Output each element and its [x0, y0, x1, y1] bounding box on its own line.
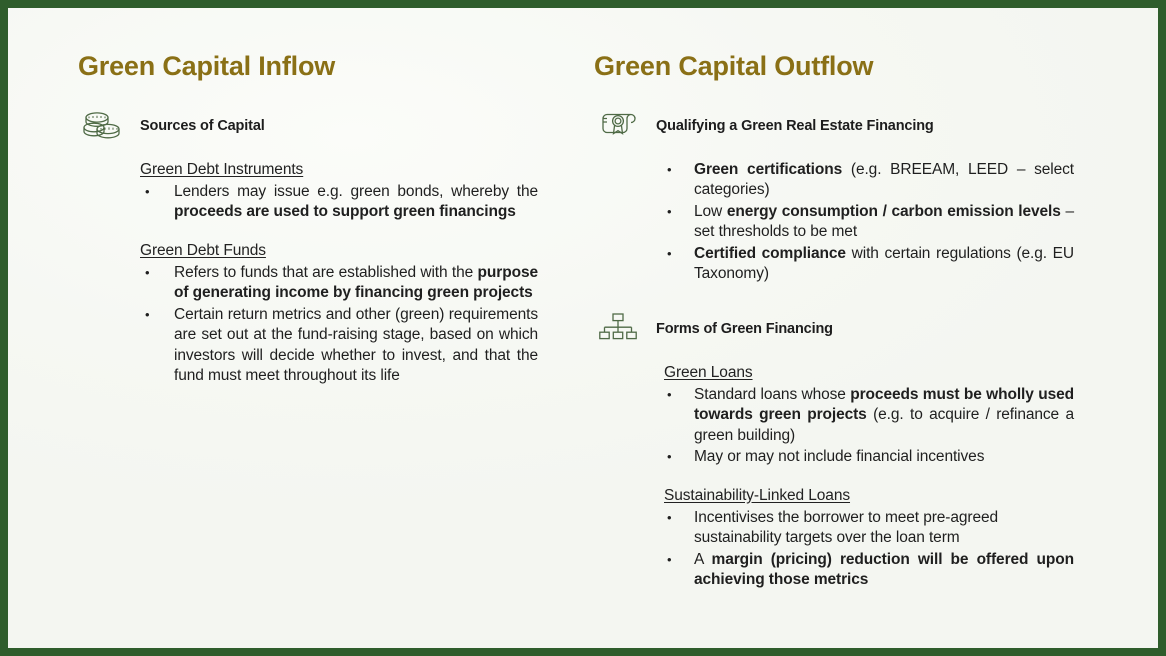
- body-text: Incentivises the borrower to meet pre-ag…: [694, 509, 998, 547]
- slide-frame: Green Capital Inflow Sources of CapitalG…: [0, 0, 1166, 656]
- sub-heading: Green Debt Instruments: [140, 160, 538, 181]
- section-title: Sources of Capital: [140, 118, 265, 135]
- section-header: Qualifying a Green Real Estate Financing: [594, 112, 1074, 142]
- list-item: Incentivises the borrower to meet pre-ag…: [664, 508, 1074, 549]
- list-item: May or may not include financial incenti…: [664, 447, 1074, 468]
- list-item: A margin (pricing) reduction will be off…: [664, 550, 1074, 591]
- emphasis-text: Certified compliance: [694, 245, 846, 262]
- body-text: A: [694, 551, 712, 568]
- bullet-list: Green certifications (e.g. BREEAM, LEED …: [664, 160, 1074, 285]
- list-item: Certain return metrics and other (green)…: [140, 305, 538, 387]
- text-block: Green certifications (e.g. BREEAM, LEED …: [664, 160, 1074, 285]
- bullet-list: Refers to funds that are established wit…: [140, 263, 538, 387]
- section-header: Forms of Green Financing: [594, 315, 1074, 345]
- list-item: Standard loans whose proceeds must be wh…: [664, 385, 1074, 447]
- emphasis-text: margin (pricing) reduction will be offer…: [694, 551, 1074, 589]
- section-title: Qualifying a Green Real Estate Financing: [656, 118, 934, 135]
- sub-heading: Green Loans: [664, 363, 1074, 384]
- slide-canvas: Green Capital Inflow Sources of CapitalG…: [8, 8, 1158, 648]
- emphasis-text: proceeds are used to support green finan…: [174, 203, 516, 220]
- page-title-left: Green Capital Inflow: [78, 52, 538, 82]
- list-item: Refers to funds that are established wit…: [140, 263, 538, 304]
- body-text: Standard loans whose: [694, 386, 850, 403]
- column-green-capital-outflow: Green Capital Outflow Qualifying a Green…: [594, 52, 1074, 591]
- stacked-coins-icon: [80, 108, 124, 144]
- body-text: Low: [694, 203, 727, 220]
- section-header: Sources of Capital: [78, 112, 538, 142]
- list-item: Lenders may issue e.g. green bonds, wher…: [140, 182, 538, 223]
- sub-heading: Sustainability-Linked Loans: [664, 486, 1074, 507]
- bullet-list: Incentivises the borrower to meet pre-ag…: [664, 508, 1074, 591]
- column-green-capital-inflow: Green Capital Inflow Sources of CapitalG…: [78, 52, 538, 387]
- page-title-right: Green Capital Outflow: [594, 52, 1074, 82]
- body-text: Lenders may issue e.g. green bonds, wher…: [174, 183, 538, 200]
- body-text: Certain return metrics and other (green)…: [174, 306, 538, 385]
- text-block: Sustainability-Linked LoansIncentivises …: [664, 486, 1074, 591]
- list-item: Low energy consumption / carbon emission…: [664, 202, 1074, 243]
- body-text: Refers to funds that are established wit…: [174, 264, 478, 281]
- bullet-list: Standard loans whose proceeds must be wh…: [664, 385, 1074, 468]
- text-block: Green Debt InstrumentsLenders may issue …: [140, 160, 538, 223]
- text-block: Green Debt FundsRefers to funds that are…: [140, 241, 538, 387]
- bullet-list: Lenders may issue e.g. green bonds, wher…: [140, 182, 538, 223]
- section-stacked-coins: Sources of CapitalGreen Debt Instruments…: [78, 112, 538, 387]
- left-sections: Sources of CapitalGreen Debt Instruments…: [78, 112, 538, 387]
- section-title: Forms of Green Financing: [656, 321, 833, 338]
- sub-heading: Green Debt Funds: [140, 241, 538, 262]
- org-chart-icon: [596, 311, 640, 347]
- section-certificate-scroll: Qualifying a Green Real Estate Financing…: [594, 112, 1074, 285]
- emphasis-text: energy consumption / carbon emission lev…: [727, 203, 1061, 220]
- text-block: Green LoansStandard loans whose proceeds…: [664, 363, 1074, 468]
- body-text: May or may not include financial incenti…: [694, 448, 984, 465]
- emphasis-text: Green certifications: [694, 161, 842, 178]
- section-org-chart: Forms of Green FinancingGreen LoansStand…: [594, 315, 1074, 591]
- list-item: Green certifications (e.g. BREEAM, LEED …: [664, 160, 1074, 201]
- certificate-scroll-icon: [596, 108, 640, 144]
- right-sections: Qualifying a Green Real Estate Financing…: [594, 112, 1074, 591]
- list-item: Certified compliance with certain regula…: [664, 244, 1074, 285]
